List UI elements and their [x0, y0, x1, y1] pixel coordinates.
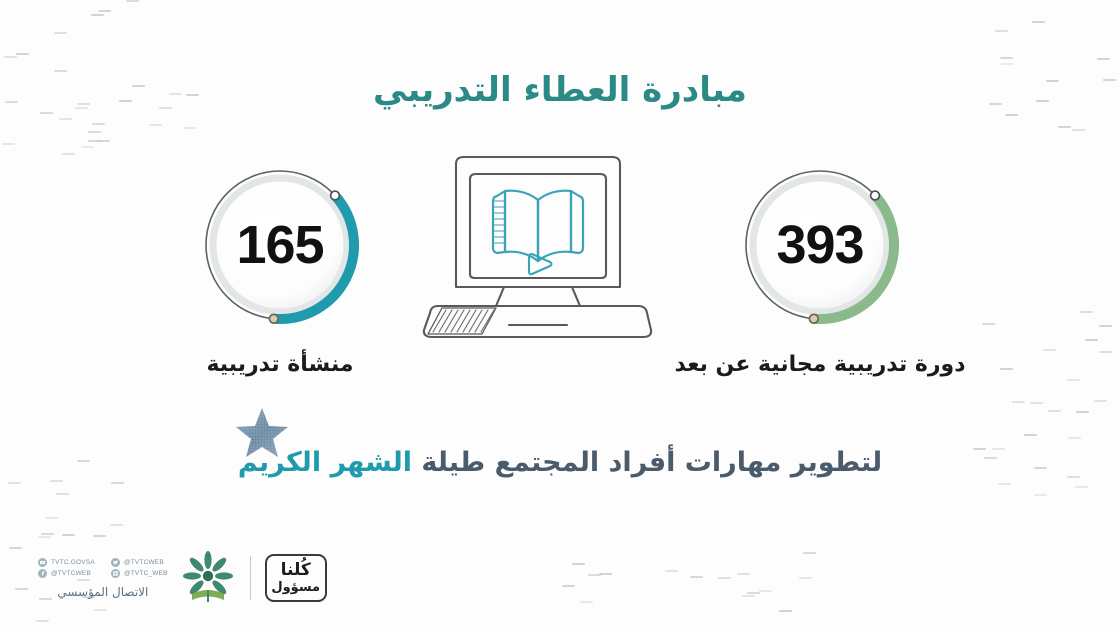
social-link-youtube[interactable]: TVTC.GOVSA: [38, 558, 95, 567]
decorative-dash: [747, 592, 760, 594]
decorative-dash: [1076, 411, 1089, 413]
stat-value-training-facilities: 165: [195, 160, 365, 330]
decorative-dash: [54, 32, 67, 34]
decorative-dash: [665, 570, 678, 572]
decorative-dash: [149, 124, 162, 126]
decorative-dash: [718, 577, 731, 579]
laptop-svg: [408, 148, 668, 348]
decorative-dash: [599, 573, 612, 575]
decorative-dash: [1030, 402, 1043, 404]
laptop-illustration: [408, 148, 668, 348]
progress-ring-free-remote-courses: 393: [735, 160, 905, 330]
decorative-dash: [1000, 368, 1013, 370]
decorative-dash: [1099, 351, 1112, 353]
instagram-icon: [111, 569, 120, 578]
decorative-dash: [1068, 437, 1081, 439]
social-links-block: @TVTCWEB TVTC.GOVSA: [38, 558, 168, 599]
decorative-dash: [562, 585, 575, 587]
decorative-dash: [1080, 311, 1093, 313]
decorative-dash: [88, 140, 101, 142]
stat-label-training-facilities: منشأة تدريبية: [130, 352, 430, 377]
decorative-dash: [16, 53, 29, 55]
social-grid: @TVTCWEB TVTC.GOVSA: [38, 558, 168, 578]
social-handle-instagram: @TVTC_WEB: [124, 570, 168, 577]
decorative-dash: [36, 620, 49, 622]
kullona-line2: مسؤول: [271, 581, 320, 594]
decorative-dash: [97, 140, 110, 142]
twitter-icon: [111, 558, 120, 567]
decorative-dash: [1012, 401, 1025, 403]
social-link-twitter[interactable]: @TVTCWEB: [111, 558, 168, 567]
decorative-dash: [995, 30, 1008, 32]
decorative-dash: [98, 10, 111, 12]
decorative-dash: [81, 146, 94, 148]
decorative-dash: [1048, 410, 1061, 412]
decorative-dash: [38, 536, 51, 538]
tagline-highlight: الشهر الكريم: [238, 447, 412, 478]
decorative-dash: [759, 590, 772, 592]
decorative-dash: [998, 483, 1011, 485]
open-book-icon: [493, 191, 583, 261]
decorative-dash: [1024, 434, 1037, 436]
decorative-dash-pattern-bottom-center: [560, 540, 820, 620]
tvtc-flower-logo: [180, 550, 236, 606]
decorative-dash: [110, 524, 123, 526]
decorative-dash: [88, 131, 101, 133]
kullona-masoul-logo: كُلنا مسؤول: [265, 554, 327, 602]
decorative-dash: [1000, 57, 1013, 59]
decorative-dash: [1001, 63, 1014, 65]
decorative-dash: [40, 112, 53, 114]
stat-label-free-remote-courses: دورة تدريبية مجانية عن بعد: [670, 352, 970, 377]
stat-block-free-remote-courses: 393 دورة تدريبية مجانية عن بعد: [670, 160, 970, 377]
decorative-dash: [91, 14, 104, 16]
social-handle-twitter: @TVTCWEB: [124, 559, 164, 566]
footer-divider: [250, 556, 251, 600]
social-handle-facebook: @TVTCWEB: [51, 570, 91, 577]
footer: كُلنا مسؤول: [26, 543, 327, 613]
decorative-dash: [126, 0, 139, 2]
decorative-dash: [799, 577, 812, 579]
decorative-dash: [4, 56, 17, 58]
progress-ring-training-facilities: 165: [195, 160, 365, 330]
decorative-dash: [1099, 325, 1112, 327]
social-link-facebook[interactable]: @TVTCWEB: [38, 569, 95, 578]
stat-block-training-facilities: 165 منشأة تدريبية: [130, 160, 430, 377]
decorative-dash: [62, 153, 75, 155]
decorative-dash: [1094, 400, 1107, 402]
decorative-dash: [1097, 58, 1110, 60]
decorative-dash: [982, 323, 995, 325]
decorative-dash: [1067, 379, 1080, 381]
decorative-dash: [1058, 126, 1071, 128]
social-handle-youtube: TVTC.GOVSA: [51, 559, 95, 566]
decorative-dash: [1005, 114, 1018, 116]
decorative-dash: [45, 517, 58, 519]
decorative-dash: [690, 576, 703, 578]
decorative-dash: [588, 574, 601, 576]
decorative-dash: [572, 563, 585, 565]
tagline: لتطوير مهارات أفراد المجتمع طيلة الشهر ا…: [0, 447, 1120, 478]
tagline-prefix: لتطوير مهارات أفراد المجتمع طيلة: [412, 447, 882, 478]
infographic-canvas: مبادرة العطاء التدريبي 165: [0, 0, 1120, 630]
decorative-dash: [779, 610, 792, 612]
decorative-dash: [59, 118, 72, 120]
kullona-line1: كُلنا: [281, 562, 311, 579]
decorative-dash: [580, 601, 593, 603]
decorative-dash: [183, 127, 196, 129]
stat-value-free-remote-courses: 393: [735, 160, 905, 330]
decorative-dash: [1072, 129, 1085, 131]
decorative-dash: [1075, 486, 1088, 488]
decorative-dash: [1085, 339, 1098, 341]
decorative-dash: [1034, 494, 1047, 496]
social-link-instagram[interactable]: @TVTC_WEB: [111, 569, 168, 578]
corporate-communication-label: الاتصال المؤسسي: [38, 585, 168, 599]
decorative-dash: [1032, 21, 1045, 23]
book-spine-ticks: [494, 201, 504, 243]
decorative-dash: [92, 123, 105, 125]
decorative-dash: [8, 482, 21, 484]
decorative-dash: [2, 143, 15, 145]
youtube-icon: [38, 558, 47, 567]
decorative-dash: [742, 595, 755, 597]
decorative-dash: [62, 534, 75, 536]
page-title: مبادرة العطاء التدريبي: [0, 70, 1120, 110]
decorative-dash: [41, 533, 54, 535]
decorative-dash: [737, 573, 750, 575]
decorative-dash: [93, 535, 106, 537]
decorative-dash: [9, 547, 22, 549]
decorative-dash: [111, 482, 124, 484]
facebook-icon: [38, 569, 47, 578]
decorative-dash: [803, 552, 816, 554]
decorative-dash: [56, 493, 69, 495]
decorative-dash: [50, 480, 63, 482]
decorative-dash: [1043, 349, 1056, 351]
